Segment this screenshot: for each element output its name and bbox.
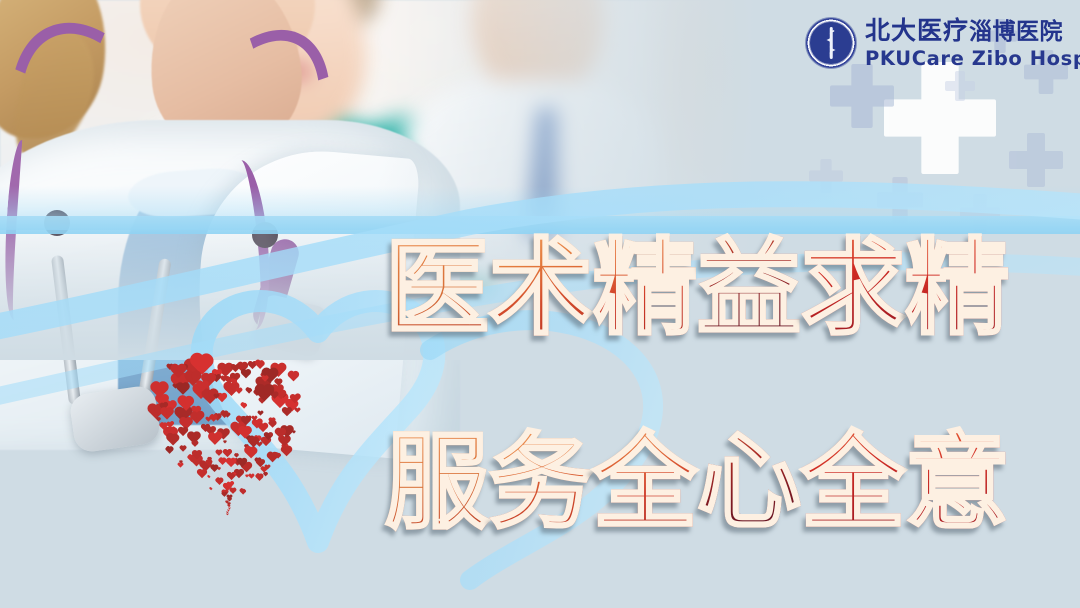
mini-heart-icon (245, 447, 256, 458)
mini-heart-icon (242, 370, 251, 379)
red-heart-cluster (148, 363, 308, 515)
mini-heart-icon (249, 437, 259, 447)
mini-heart-icon (240, 490, 245, 495)
mini-heart-icon (161, 409, 172, 420)
mini-heart-icon (178, 383, 190, 395)
mini-heart-icon (241, 403, 246, 408)
mini-heart-icon (247, 388, 252, 393)
mini-heart-icon (208, 476, 210, 478)
mini-heart-icon (206, 418, 211, 423)
headline-char: 全 (593, 430, 697, 534)
mini-heart-icon (210, 487, 212, 489)
mini-heart-icon (269, 421, 275, 427)
logo-chinese-secondary: 淄博医院 (969, 19, 1063, 45)
mini-heart-icon (264, 473, 268, 477)
mini-heart-icon (219, 458, 226, 465)
mini-heart-icon (230, 488, 236, 494)
mini-heart-icon (289, 372, 299, 382)
mini-heart-icon (256, 474, 263, 481)
mini-heart-icon (257, 443, 262, 448)
headline-char: 全 (801, 430, 905, 534)
mini-heart-icon (167, 434, 178, 445)
asclepius-snake-icon (824, 29, 839, 57)
headline-char: 精 (905, 236, 1009, 340)
mini-heart-icon (166, 447, 172, 453)
headline-char: 术 (489, 236, 593, 340)
mini-heart-icon (282, 408, 291, 417)
mini-heart-icon (223, 441, 226, 444)
headline-line-1: 医术精益求精 (385, 236, 1009, 340)
mini-heart-icon (265, 465, 269, 469)
mini-heart-icon (281, 447, 290, 456)
mini-heart-icon (179, 464, 183, 468)
headline-char: 医 (385, 236, 489, 340)
mini-heart-icon (249, 475, 253, 479)
mini-heart-icon (235, 470, 244, 479)
mini-heart-icon (209, 433, 221, 445)
banner-canvas: 北大医疗淄博医院 PKUCare Zibo Hospital 医术精益求精 服务… (0, 0, 1080, 608)
headline-line-2: 服务全心全意 (385, 430, 1009, 534)
mini-heart-icon (227, 459, 235, 467)
mini-heart-icon (258, 424, 266, 432)
mini-heart-icon (180, 446, 185, 451)
mini-heart-icon (295, 408, 299, 412)
logo-chinese-primary: 北大医疗 (865, 16, 969, 45)
headline-char: 求 (801, 236, 905, 340)
headline-char: 服 (385, 430, 489, 534)
headline-char: 务 (489, 430, 593, 534)
logo-chinese-name: 北大医疗淄博医院 (865, 18, 1080, 44)
headline-char: 精 (593, 236, 697, 340)
mini-heart-icon (216, 450, 222, 456)
logo-english-name: PKUCare Zibo Hospital (865, 49, 1080, 69)
hospital-logo[interactable]: 北大医疗淄博医院 PKUCare Zibo Hospital (806, 18, 1080, 69)
mini-heart-icon (211, 465, 218, 472)
mini-heart-icon (198, 470, 206, 478)
headline-char: 心 (697, 430, 801, 534)
logo-wordmark: 北大医疗淄博医院 PKUCare Zibo Hospital (865, 18, 1080, 69)
headline-char: 益 (697, 236, 801, 340)
mini-heart-icon (236, 389, 242, 395)
mini-heart-icon (192, 441, 198, 447)
mini-heart-icon (259, 411, 263, 415)
headline-char: 意 (905, 430, 1009, 534)
mini-heart-icon (156, 417, 160, 421)
pku-healthcare-seal-icon (806, 18, 856, 68)
